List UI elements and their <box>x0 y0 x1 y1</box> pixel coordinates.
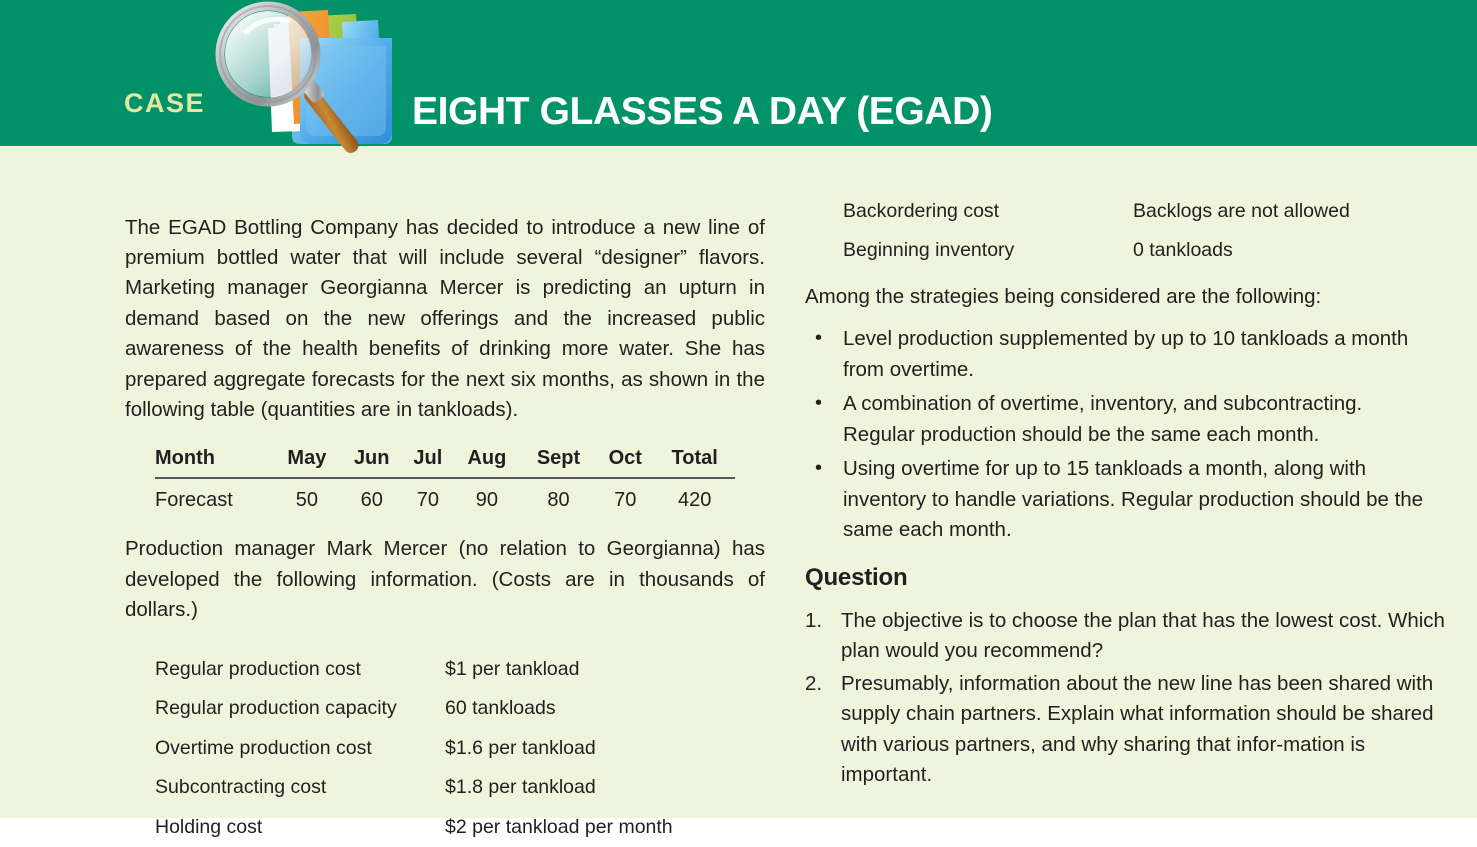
table-col-header: Jul <box>403 447 453 478</box>
spec-label: Holding cost <box>155 808 445 847</box>
list-item-number: 2. <box>805 669 822 700</box>
spec-label: Overtime production cost <box>155 729 445 769</box>
table-col-header: Sept <box>521 447 596 478</box>
spec-label: Beginning inventory <box>843 231 1133 270</box>
question-heading: Question <box>805 564 1462 592</box>
bullet-icon: • <box>815 388 822 419</box>
table-cell: 420 <box>654 478 735 512</box>
table-cell: 80 <box>521 478 596 512</box>
table-cell: Forecast <box>155 478 273 512</box>
table-col-header: Total <box>654 447 735 478</box>
table-col-header: Oct <box>596 447 654 478</box>
table-header-row: Month May Jun Jul Aug Sept Oct Total <box>155 447 735 478</box>
spec-value: 0 tankloads <box>1133 231 1462 270</box>
spec-value: Backlogs are not allowed <box>1133 192 1462 231</box>
case-page: CASE EIGHT GLASSES A DAY (EGAD) <box>0 0 1477 818</box>
spec-row: Holding cost $2 per tankload per month <box>155 808 765 847</box>
spec-value: $1.6 per tankload <box>445 729 765 769</box>
spec-value: $2 per tankload per month <box>445 808 765 847</box>
spec-row: Subcontracting cost $1.8 per tankload <box>155 768 765 808</box>
list-item: • A combination of overtime, inventory, … <box>805 389 1439 450</box>
strategies-lead-in: Among the strategies being considered ar… <box>805 282 1462 312</box>
table-col-header: May <box>273 447 341 478</box>
spec-row: Beginning inventory 0 tankloads <box>843 231 1462 270</box>
list-item: 2. Presumably, information about the new… <box>805 669 1445 791</box>
questions-list: 1. The objective is to choose the plan t… <box>805 606 1462 791</box>
spec-label: Regular production cost <box>155 650 445 690</box>
bullet-icon: • <box>815 323 822 354</box>
table-cell: 50 <box>273 478 341 512</box>
table-row: Forecast 50 60 70 90 80 70 420 <box>155 478 735 512</box>
table-col-header: Jun <box>341 447 403 478</box>
case-kicker-label: CASE <box>124 88 205 119</box>
spec-label: Backordering cost <box>843 192 1133 231</box>
table-col-header: Month <box>155 447 273 478</box>
spec-value: 60 tankloads <box>445 689 765 729</box>
cost-spec-list-left: Regular production cost $1 per tankload … <box>125 650 765 847</box>
spec-label: Subcontracting cost <box>155 768 445 808</box>
bullet-icon: • <box>815 453 822 484</box>
list-item-text: Using overtime for up to 15 tankloads a … <box>843 457 1423 541</box>
spec-row: Backordering cost Backlogs are not allow… <box>843 192 1462 231</box>
spec-label: Regular production capacity <box>155 689 445 729</box>
table-col-header: Aug <box>453 447 521 478</box>
list-item-text: Level production supplemented by up to 1… <box>843 327 1408 381</box>
spec-row: Regular production cost $1 per tankload <box>155 650 765 690</box>
list-item: • Level production supplemented by up to… <box>805 324 1439 385</box>
cost-spec-list-right: Backordering cost Backlogs are not allow… <box>805 192 1462 270</box>
table-cell: 70 <box>403 478 453 512</box>
right-column: Backordering cost Backlogs are not allow… <box>790 146 1477 793</box>
left-column: The EGAD Bottling Company has decided to… <box>0 146 790 847</box>
table-cell: 60 <box>341 478 403 512</box>
list-item: 1. The objective is to choose the plan t… <box>805 606 1445 667</box>
spec-value: $1 per tankload <box>445 650 765 690</box>
list-item-text: A combination of overtime, inventory, an… <box>843 392 1362 446</box>
list-item-text: The objective is to choose the plan that… <box>841 609 1445 663</box>
forecast-table: Month May Jun Jul Aug Sept Oct Total For <box>155 447 735 512</box>
table-cell: 90 <box>453 478 521 512</box>
page-title: EIGHT GLASSES A DAY (EGAD) <box>412 90 992 134</box>
intro-paragraph: The EGAD Bottling Company has decided to… <box>125 213 765 426</box>
forecast-table-wrapper: Month May Jun Jul Aug Sept Oct Total For <box>155 447 735 512</box>
spec-row: Overtime production cost $1.6 per tanklo… <box>155 729 765 769</box>
strategies-list: • Level production supplemented by up to… <box>805 324 1462 546</box>
table-cell: 70 <box>596 478 654 512</box>
list-item-number: 1. <box>805 606 822 637</box>
spec-value: $1.8 per tankload <box>445 768 765 808</box>
list-item-text: Presumably, information about the new li… <box>841 672 1434 787</box>
second-paragraph: Production manager Mark Mercer (no relat… <box>125 534 765 625</box>
list-item: • Using overtime for up to 15 tankloads … <box>805 454 1439 546</box>
spec-row: Regular production capacity 60 tankloads <box>155 689 765 729</box>
folder-magnifier-icon <box>196 0 411 173</box>
